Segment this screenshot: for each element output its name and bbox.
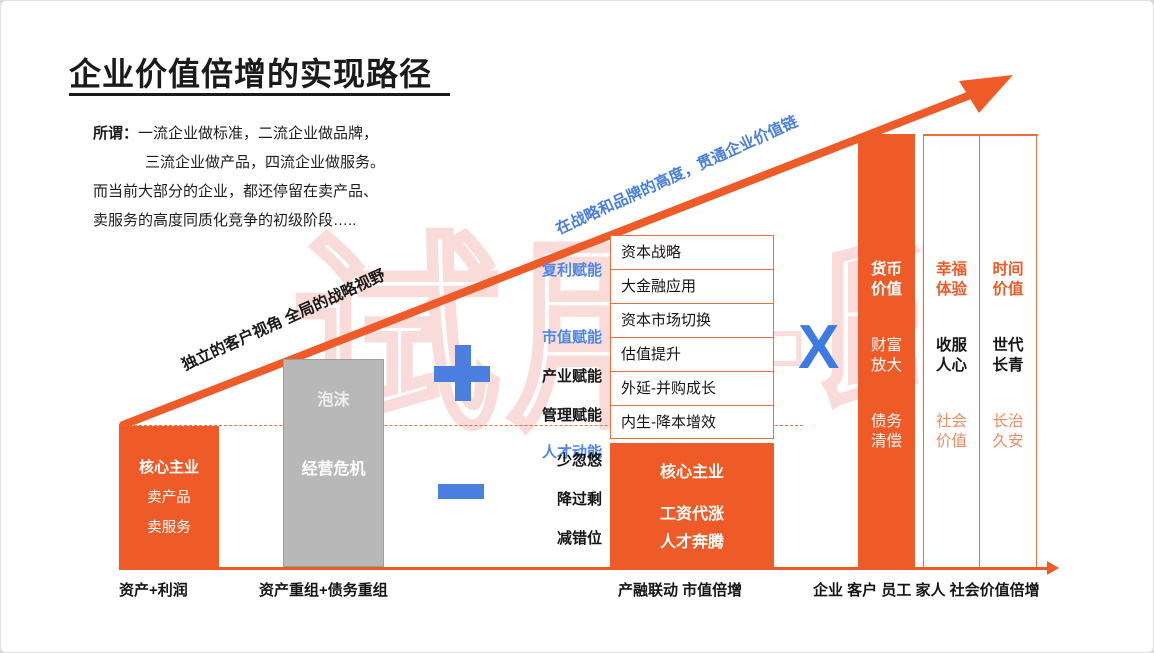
value-col-1-mid: 收服 人心 xyxy=(936,336,967,376)
title-underline xyxy=(69,93,450,96)
value-col-0-bottom-line-1: 债务 xyxy=(871,413,902,430)
value-col-2-title-line-1: 时间 xyxy=(992,261,1023,278)
value-col-0-mid-line-1: 财富 xyxy=(871,337,902,354)
arrow-label-blue: 在战略和品牌的高度，贯通企业价值链 xyxy=(552,110,801,239)
bar-growth-line-3: 人才奔腾 xyxy=(660,528,724,552)
bar-core-line-1: 核心主业 xyxy=(139,456,199,477)
value-col-1-title: 幸福 体验 xyxy=(936,260,967,300)
value-col-0-title-line-1: 货币 xyxy=(871,261,902,278)
reduce-item-2: 减错位 xyxy=(518,527,602,548)
value-col-1-title-line-1: 幸福 xyxy=(936,261,967,278)
value-col-1-mid-line-1: 收服 xyxy=(936,337,967,354)
bar-core-line-3: 卖服务 xyxy=(147,516,191,537)
bar-operating-crisis: 泡沫 经营危机 xyxy=(283,359,384,567)
intro-line-1: 一流企业做标准，二流企业做品牌， xyxy=(138,125,378,142)
value-col-0-title-line-2: 价值 xyxy=(871,281,902,298)
bar-crisis-bubble-label: 泡沫 xyxy=(317,386,349,410)
strategy-item-2[interactable]: 资本市场切换 xyxy=(610,303,774,337)
value-col-1-bottom-line-1: 社会 xyxy=(936,413,967,430)
strategy-item-5[interactable]: 内生-降本增效 xyxy=(610,405,774,439)
value-col-2-bottom: 长治 久安 xyxy=(992,412,1023,452)
value-col-0-bottom-line-2: 清偿 xyxy=(871,433,902,450)
minus-icon xyxy=(438,484,484,499)
value-col-1-title-line-2: 体验 xyxy=(936,281,967,298)
caption-industry-finance: 产融联动 市值倍增 xyxy=(618,579,742,600)
value-column-time: 时间 价值 世代 长青 长治 久安 xyxy=(980,134,1037,567)
bar-growth-line-2: 工资代涨 xyxy=(660,500,724,524)
reduce-item-0: 少忽悠 xyxy=(518,449,602,470)
horizontal-axis-arrowhead xyxy=(1047,561,1059,575)
empowerment-column: 复利赋能 市值赋能 产业赋能 管理赋能 人才动能 xyxy=(514,259,602,462)
empowerment-item-3: 管理赋能 xyxy=(514,404,602,425)
reduce-list: 少忽悠 降过剩 减错位 xyxy=(518,449,602,566)
value-col-2-bottom-line-2: 久安 xyxy=(992,433,1023,450)
slide-canvas: 试用-印 企业价值倍增的实现路径 所谓：一流企业做标准，二流企业做品牌， 三流企… xyxy=(0,0,1154,653)
strategy-list: 资本战略 大金融应用 资本市场切换 估值提升 外延-并购成长 内生-降本增效 xyxy=(610,235,774,439)
multiply-icon: X xyxy=(798,317,839,379)
value-col-2-mid-line-2: 长青 xyxy=(992,357,1023,374)
strategy-item-3[interactable]: 估值提升 xyxy=(610,337,774,371)
bar-growth-line-1: 核心主业 xyxy=(660,458,724,482)
value-col-2-bottom-line-1: 长治 xyxy=(992,413,1023,430)
bar-crisis-label: 经营危机 xyxy=(301,455,365,479)
intro-line-3: 而当前大部分的企业，都还停留在卖产品、 xyxy=(93,183,378,200)
strategy-item-0[interactable]: 资本战略 xyxy=(610,235,774,269)
empowerment-item-2: 产业赋能 xyxy=(514,365,602,386)
intro-line-2: 三流企业做产品，四流企业做服务。 xyxy=(145,154,385,171)
strategy-item-1[interactable]: 大金融应用 xyxy=(610,269,774,303)
value-col-1-mid-line-2: 人心 xyxy=(936,357,967,374)
reduce-item-1: 降过剩 xyxy=(518,488,602,509)
value-columns-top-border xyxy=(923,134,1038,136)
value-col-2-mid: 世代 长青 xyxy=(992,336,1023,376)
caption-assets-profit: 资产+利润 xyxy=(119,579,188,600)
intro-line-4: 卖服务的高度同质化竞争的初级阶段….. xyxy=(93,212,356,229)
plus-icon xyxy=(434,345,490,401)
bar-core-line-2: 卖产品 xyxy=(147,486,191,507)
intro-lead: 所谓： xyxy=(93,125,138,142)
bar-core-business: 核心主业 卖产品 卖服务 xyxy=(119,426,219,567)
caption-stakeholder-value: 企业 客户 员工 家人 社会价值倍增 xyxy=(813,579,1040,600)
bar-growth-core: 核心主业 工资代涨 人才奔腾 xyxy=(610,443,774,567)
value-col-1-bottom-line-2: 价值 xyxy=(936,433,967,450)
value-column-monetary: 货币 价值 财富 放大 债务 清偿 xyxy=(858,134,915,567)
value-col-0-mid: 财富 放大 xyxy=(871,336,902,376)
value-col-0-title: 货币 价值 xyxy=(871,260,902,300)
value-col-2-title-line-2: 价值 xyxy=(992,281,1023,298)
value-col-2-mid-line-1: 世代 xyxy=(992,337,1023,354)
page-title: 企业价值倍增的实现路径 xyxy=(69,49,432,95)
empowerment-item-1: 市值赋能 xyxy=(514,326,602,347)
horizontal-axis xyxy=(119,567,1053,570)
value-col-0-bottom: 债务 清偿 xyxy=(871,412,902,452)
value-col-2-title: 时间 价值 xyxy=(992,260,1023,300)
empowerment-item-0: 复利赋能 xyxy=(514,259,602,280)
value-column-happiness: 幸福 体验 收服 人心 社会 价值 xyxy=(923,134,980,567)
strategy-item-4[interactable]: 外延-并购成长 xyxy=(610,371,774,405)
caption-restructuring: 资产重组+债务重组 xyxy=(259,579,388,600)
value-col-0-mid-line-2: 放大 xyxy=(871,357,902,374)
value-col-1-bottom: 社会 价值 xyxy=(936,412,967,452)
intro-paragraph: 所谓：一流企业做标准，二流企业做品牌， 三流企业做产品，四流企业做服务。 而当前… xyxy=(93,119,385,235)
